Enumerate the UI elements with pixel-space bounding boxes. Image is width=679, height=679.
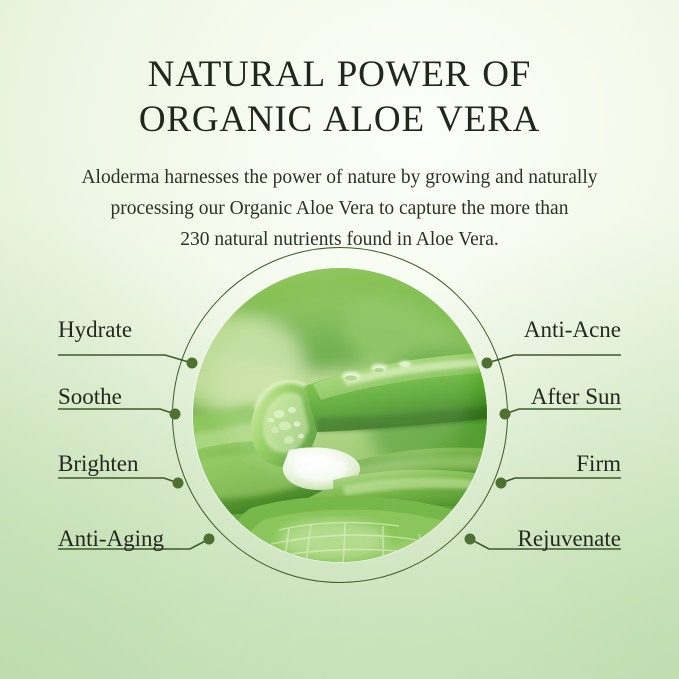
subtitle-line-2: processing our Organic Aloe Vera to capt…: [40, 194, 640, 225]
connector-line-brighten: [58, 478, 178, 483]
benefit-anti-acne[interactable]: Anti-Acne: [524, 318, 621, 341]
aloe-circle-composition: [172, 247, 508, 583]
connector-line-soothe: [58, 409, 175, 414]
benefit-hydrate[interactable]: Hydrate: [58, 318, 132, 341]
header: NATURAL POWER OF ORGANIC ALOE VERA: [0, 52, 679, 142]
title-line-1: NATURAL POWER OF: [0, 52, 679, 97]
connector-line-firm: [501, 478, 621, 483]
subtitle-line-3: 230 natural nutrients found in Aloe Vera…: [40, 225, 640, 256]
benefit-firm[interactable]: Firm: [576, 452, 621, 475]
subtitle-paragraph: Aloderma harnesses the power of nature b…: [40, 163, 640, 255]
benefit-rejuvenate[interactable]: Rejuvenate: [518, 527, 621, 550]
title-line-2: ORGANIC ALOE VERA: [0, 97, 679, 142]
aloe-vera-photo: [193, 268, 487, 562]
benefit-brighten[interactable]: Brighten: [58, 452, 139, 475]
subtitle-line-1: Aloderma harnesses the power of nature b…: [40, 163, 640, 194]
aloe-vera-infographic-poster: NATURAL POWER OF ORGANIC ALOE VERA Alode…: [0, 0, 679, 679]
benefit-soothe[interactable]: Soothe: [58, 385, 122, 408]
connector-line-after-sun: [505, 409, 621, 414]
benefit-anti-aging[interactable]: Anti-Aging: [58, 527, 164, 550]
page-title: NATURAL POWER OF ORGANIC ALOE VERA: [0, 52, 679, 142]
benefit-after-sun[interactable]: After Sun: [531, 385, 621, 408]
